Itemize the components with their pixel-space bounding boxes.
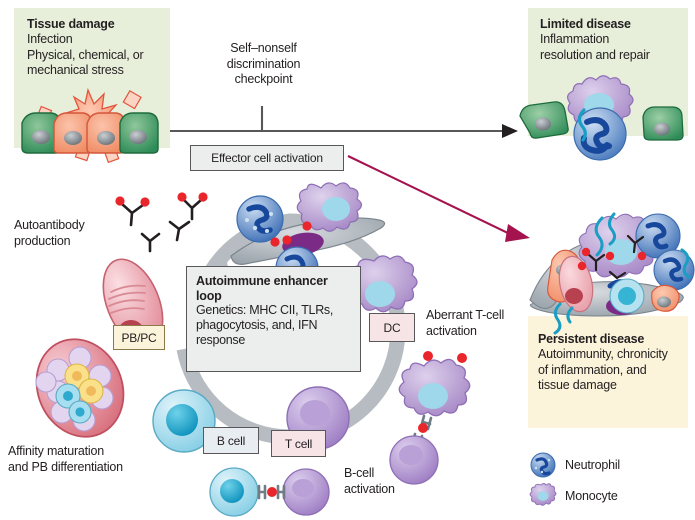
bcell-act-line-2: activation [344,482,434,498]
b-cell-label-box[interactable]: B cell [203,427,259,454]
b-cell-label: B cell [217,434,245,448]
tissue-damage-text: Tissue damage Infection Physical, chemic… [27,17,167,79]
legend-label-monocyte: Monocyte [565,489,618,503]
enhancer-body-line-2: phagocytosis, and, IFN [196,318,351,333]
limited-disease-line-2: resolution and repair [540,48,690,64]
limited-disease-text: Limited disease Inflammation resolution … [540,17,690,63]
aberrant-line-2: activation [426,324,536,340]
legend-item-monocyte: Monocyte [530,483,618,509]
limited-disease-line-1: Inflammation [540,32,690,48]
enhancer-title-line-2: loop [196,289,351,304]
tissue-damage-title: Tissue damage [27,17,167,32]
checkpoint-line-2: discrimination [206,57,321,73]
autoantibody-line-1: Autoantibody [14,218,114,234]
autoantibody-label: Autoantibody production [14,218,114,249]
aberrant-t-cell-illustration [388,348,500,478]
t-cell-label-box[interactable]: T cell [271,430,326,457]
persistent-disease-text: Persistent disease Autoimmunity, chronic… [538,332,690,394]
tissue-damage-line-2: Physical, chemical, or [27,48,167,64]
aberrant-line-1: Aberrant T-cell [426,308,536,324]
tissue-damage-line-3: mechanical stress [27,63,167,79]
checkpoint-label: Self–nonself discrimination checkpoint [206,41,321,88]
dc-label-box[interactable]: DC [369,313,415,342]
t-cell-label: T cell [285,437,312,451]
affinity-line-2: and PB differentiation [8,460,198,476]
germinal-centre-illustration [28,336,132,441]
monocyte-icon [530,483,556,509]
enhancer-body-line-3: response [196,333,351,348]
b-cell-activation-illustration [206,466,336,518]
tissue-damage-illustration [14,80,174,158]
aberrant-t-cell-activation-label: Aberrant T-cell activation [426,308,536,339]
effector-cell-activation-label: Effector cell activation [211,151,323,165]
limited-disease-illustration [512,72,688,158]
effector-cell-activation-box[interactable]: Effector cell activation [190,145,344,171]
limited-disease-title: Limited disease [540,17,690,32]
persistent-disease-line-1: Autoimmunity, chronicity [538,347,690,363]
tissue-damage-line-1: Infection [27,32,167,48]
figure-canvas: Tissue damage Infection Physical, chemic… [0,0,695,520]
autoimmune-enhancer-loop-box[interactable]: Autoimmune enhancer loop Genetics: MHC C… [186,266,361,372]
checkpoint-line-1: Self–nonself [206,41,321,57]
autoantibody-illustration [110,188,215,253]
checkpoint-line-3: checkpoint [206,72,321,88]
persistent-disease-line-2: of inflammation, and [538,363,690,379]
dc-label: DC [384,321,401,335]
persistent-disease-title: Persistent disease [538,332,690,347]
persistent-disease-line-3: tissue damage [538,378,690,394]
legend-label-neutrophil: Neutrophil [565,458,620,472]
autoantibody-line-2: production [14,234,114,250]
neutrophil-icon [530,452,556,478]
persistent-disease-illustration [524,208,695,330]
enhancer-title-line-1: Autoimmune enhancer [196,274,351,289]
legend-item-neutrophil: Neutrophil [530,452,620,478]
enhancer-body-line-1: Genetics: MHC CII, TLRs, [196,303,351,318]
